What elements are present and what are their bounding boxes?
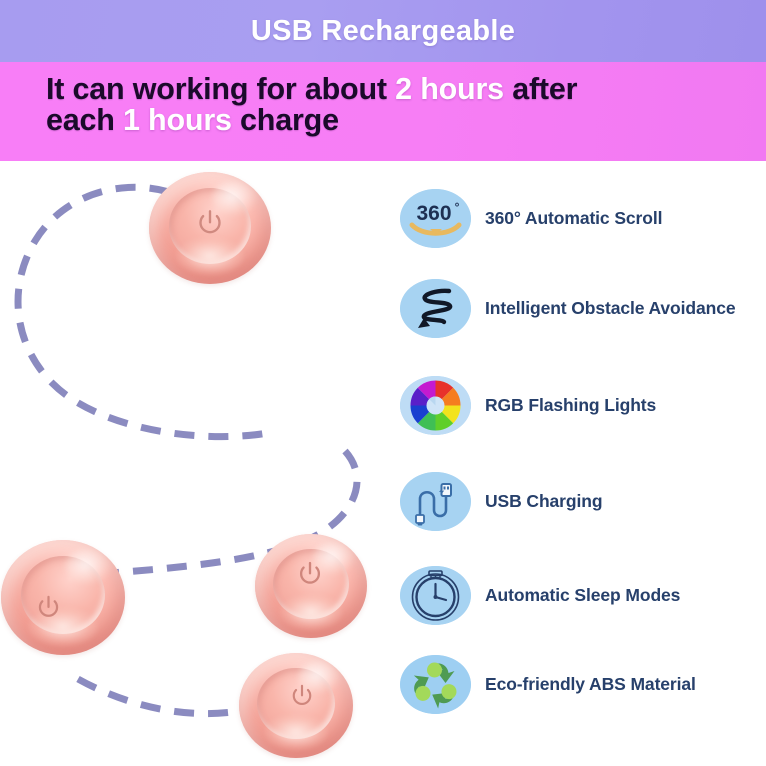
feature-list: 360 ° 360° Automatic Scroll Intelligent … xyxy=(400,161,766,766)
feature-label: 360° Automatic Scroll xyxy=(485,208,662,229)
zigzag-obstacle-avoidance-icon xyxy=(400,279,471,338)
statement-runtime-highlight: 2 hours xyxy=(395,72,504,106)
ball-shell xyxy=(149,172,271,284)
feature-label: Automatic Sleep Modes xyxy=(485,585,680,606)
feature-label: Eco-friendly ABS Material xyxy=(485,674,696,695)
header-band: USB Rechargeable xyxy=(0,0,766,62)
statement-line1-part2: after xyxy=(504,72,577,106)
feature-row-intelligent-obstacle-avoidance: Intelligent Obstacle Avoidance xyxy=(400,279,736,338)
ball-light-glow xyxy=(264,714,328,750)
product-ball-top xyxy=(149,172,271,284)
feature-row-eco-friendly-abs-material: Eco-friendly ABS Material xyxy=(400,655,696,714)
feature-row-automatic-sleep-modes: Automatic Sleep Modes xyxy=(400,566,680,625)
power-icon xyxy=(195,208,225,238)
infographic-page: USB Rechargeable It can working for abou… xyxy=(0,0,766,766)
main-stage: 360 ° 360° Automatic Scroll Intelligent … xyxy=(0,161,766,766)
page-title: USB Rechargeable xyxy=(251,15,515,48)
360-degrees-icon: 360 ° xyxy=(400,189,471,248)
usb-cable-icon xyxy=(400,472,471,531)
product-ball-middle xyxy=(255,534,367,638)
feature-row-360-automatic-scroll: 360 ° 360° Automatic Scroll xyxy=(400,189,662,248)
ball-shell xyxy=(255,534,367,638)
recycle-leaf-icon xyxy=(400,655,471,714)
feature-row-rgb-flashing-lights: RGB Flashing Lights xyxy=(400,376,656,435)
statement-chargetime-highlight: 1 hours xyxy=(123,103,232,137)
statement-line2-part2: charge xyxy=(232,103,339,137)
feature-label: Intelligent Obstacle Avoidance xyxy=(485,298,736,319)
motion-path-segment-lower xyxy=(78,679,250,714)
ball-light-glow xyxy=(176,237,244,275)
power-icon xyxy=(289,683,315,709)
subheader-band: It can working for about 2 hours after e… xyxy=(0,62,766,161)
product-ball-bottom xyxy=(239,653,353,758)
ball-shell xyxy=(1,540,125,655)
statement-line2-part1: each xyxy=(46,103,123,137)
feature-label: USB Charging xyxy=(485,491,602,512)
power-icon xyxy=(296,560,324,588)
ball-light-glow xyxy=(280,594,343,629)
rgb-color-wheel-icon xyxy=(400,376,471,435)
statement-line1-part1: It can working for about xyxy=(46,72,395,106)
svg-text:°: ° xyxy=(455,200,460,214)
svg-text:360: 360 xyxy=(416,202,451,225)
ball-shell xyxy=(239,653,353,758)
feature-row-usb-charging: USB Charging xyxy=(400,472,602,531)
feature-label: RGB Flashing Lights xyxy=(485,395,656,416)
power-icon xyxy=(35,594,62,621)
clock-sleep-icon xyxy=(400,566,471,625)
battery-life-statement: It can working for about 2 hours after e… xyxy=(46,74,736,137)
product-ball-left xyxy=(1,540,125,655)
ball-specular-highlight xyxy=(65,549,110,584)
